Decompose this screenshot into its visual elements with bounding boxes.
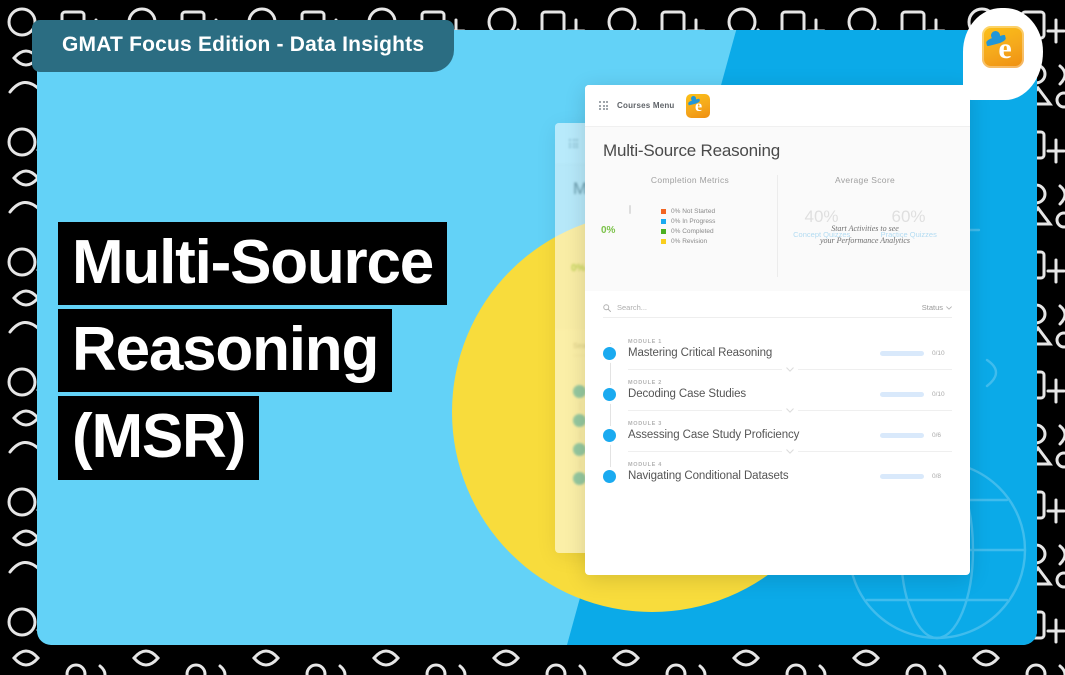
logo-letter-e: e [982, 26, 1024, 68]
legend-swatch-completed [661, 229, 666, 234]
completion-donut-chart: 0% [607, 203, 653, 249]
brand-logo-icon: e [982, 26, 1024, 68]
divider-line [798, 451, 952, 452]
quiz-links: Concept Quizzes Practice Quizzes [778, 230, 952, 239]
search-icon [603, 304, 611, 312]
completion-legend: 0% Not Started 0% In Progress 0% Complet… [661, 208, 715, 245]
status-filter-dropdown[interactable]: Status [904, 303, 952, 318]
metrics-panel: Multi-Source Reasoning Completion Metric… [585, 127, 970, 291]
module-row[interactable]: MODULE 4 Navigating Conditional Datasets… [603, 454, 952, 483]
app-window: Courses Menu e Multi-Source Reasoning Co… [585, 85, 970, 575]
module-expander[interactable] [603, 401, 952, 413]
module-progress-count: 0/10 [932, 350, 952, 357]
module-row[interactable]: MODULE 2 Decoding Case Studies 0/10 [603, 372, 952, 401]
divider-line [628, 451, 782, 452]
brand-logo-bubble: e [963, 8, 1043, 100]
title-line-3: (MSR) [58, 396, 259, 479]
apps-grid-icon[interactable] [599, 101, 608, 110]
module-label: MODULE 4 [628, 462, 880, 468]
module-name: Assessing Case Study Proficiency [628, 429, 880, 441]
completion-percent: 0% [601, 225, 615, 236]
search-bar: Search... Status [585, 291, 970, 325]
module-status-dot [603, 388, 616, 401]
course-title: Multi-Source Reasoning [603, 141, 952, 161]
search-input[interactable]: Search... [603, 303, 904, 318]
divider-line [798, 369, 952, 370]
average-score-column: Average Score 40% 60% Start Activities t… [778, 175, 952, 277]
module-row[interactable]: MODULE 3 Assessing Case Study Proficienc… [603, 413, 952, 442]
module-progress-bar [880, 392, 924, 397]
module-status-dot [603, 429, 616, 442]
legend-item: 0% In Progress [661, 218, 715, 225]
average-score-heading: Average Score [778, 175, 952, 185]
module-progress-bar [880, 433, 924, 438]
logo-letter-e: e [686, 94, 710, 118]
legend-item: 0% Completed [661, 228, 715, 235]
divider-line [798, 410, 952, 411]
completion-metrics-heading: Completion Metrics [603, 175, 777, 185]
module-progress-bar [880, 474, 924, 479]
status-filter-label: Status [922, 303, 943, 312]
module-progress-bar [880, 351, 924, 356]
divider-line [628, 410, 782, 411]
module-status-dot [603, 347, 616, 360]
module-progress-count: 0/6 [932, 432, 952, 439]
legend-swatch-revision [661, 239, 666, 244]
legend-item: 0% Revision [661, 238, 715, 245]
divider-line [628, 369, 782, 370]
legend-item: 0% Not Started [661, 208, 715, 215]
title-line-1: Multi-Source [58, 222, 447, 305]
legend-swatch-not-started [661, 209, 666, 214]
title-line-2: Reasoning [58, 309, 392, 392]
practice-quizzes-link[interactable]: Practice Quizzes [881, 230, 937, 239]
chevron-down-icon [946, 306, 952, 310]
donut-ring-segment [629, 205, 631, 214]
module-label: MODULE 1 [628, 339, 880, 345]
module-progress-count: 0/10 [932, 391, 952, 398]
app-window-stack: Courses Menu e Multi-Source Reasoning Co… [555, 85, 975, 585]
module-label: MODULE 2 [628, 380, 880, 386]
module-name: Mastering Critical Reasoning [628, 347, 880, 359]
module-name: Navigating Conditional Datasets [628, 470, 880, 482]
module-row[interactable]: MODULE 1 Mastering Critical Reasoning 0/… [603, 331, 952, 360]
module-label: MODULE 3 [628, 421, 880, 427]
header-banner: GMAT Focus Edition - Data Insights [32, 20, 454, 72]
concept-quizzes-link[interactable]: Concept Quizzes [793, 230, 850, 239]
completion-metrics-column: Completion Metrics 0% 0% Not Started 0% … [603, 175, 778, 277]
module-name: Decoding Case Studies [628, 388, 880, 400]
courses-menu-label[interactable]: Courses Menu [617, 101, 675, 110]
brand-logo-icon[interactable]: e [686, 94, 710, 118]
page-title: Multi-Source Reasoning (MSR) [58, 222, 447, 484]
module-progress-count: 0/8 [932, 473, 952, 480]
search-placeholder: Search... [617, 303, 647, 312]
module-list: MODULE 1 Mastering Critical Reasoning 0/… [585, 325, 970, 483]
module-expander[interactable] [603, 360, 952, 372]
apps-grid-icon [569, 139, 578, 148]
module-status-dot [603, 470, 616, 483]
module-expander[interactable] [603, 442, 952, 454]
legend-swatch-in-progress [661, 219, 666, 224]
app-topbar: Courses Menu e [585, 85, 970, 127]
